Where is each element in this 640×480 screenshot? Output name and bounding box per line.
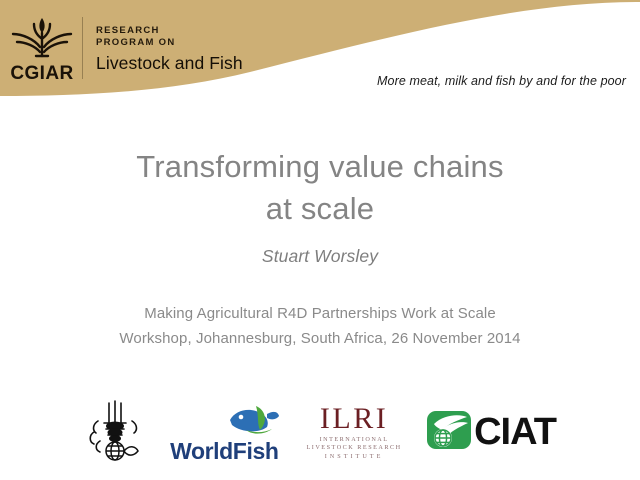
ciat-globe-leaf-icon bbox=[426, 408, 472, 457]
ilri-sub-line2: LIVESTOCK RESEARCH bbox=[307, 444, 402, 453]
slide-event: Making Agricultural R4D Partnerships Wor… bbox=[0, 301, 640, 351]
cgiar-brand-block: CGIAR RESEARCH PROGRAM ON Livestock and … bbox=[0, 0, 400, 96]
ilri-wordmark: ILRI bbox=[320, 403, 388, 434]
brand-kicker-line1: RESEARCH bbox=[96, 25, 243, 38]
ilri-sub-line3: INSTITUTE bbox=[307, 453, 402, 462]
event-line1: Making Agricultural R4D Partnerships Wor… bbox=[0, 301, 640, 326]
worldfish-wordmark: WorldFish bbox=[170, 439, 278, 463]
cgiar-wordmark: CGIAR bbox=[10, 63, 73, 85]
ilri-subtitle: INTERNATIONAL LIVESTOCK RESEARCH INSTITU… bbox=[307, 436, 402, 462]
ilri-logo: ILRI INTERNATIONAL LIVESTOCK RESEARCH IN… bbox=[306, 403, 402, 462]
brand-text: RESEARCH PROGRAM ON Livestock and Fish bbox=[96, 23, 243, 74]
worldfish-fish-icon bbox=[226, 402, 280, 441]
icarda-logo bbox=[84, 399, 146, 465]
ciat-wordmark: CIAT bbox=[474, 413, 556, 451]
slide-title: Transforming value chains at scale bbox=[0, 146, 640, 230]
cgiar-logo-icon: CGIAR bbox=[6, 12, 78, 85]
slide-title-line1: Transforming value chains bbox=[0, 146, 640, 188]
ilri-sub-line1: INTERNATIONAL bbox=[307, 436, 402, 445]
event-line2: Workshop, Johannesburg, South Africa, 26… bbox=[0, 326, 640, 351]
slide-author: Stuart Worsley bbox=[0, 246, 640, 267]
program-tagline: More meat, milk and fish by and for the … bbox=[377, 74, 626, 88]
brand-divider bbox=[82, 17, 83, 79]
worldfish-logo: WorldFish bbox=[170, 402, 282, 463]
brand-kicker-line2: PROGRAM ON bbox=[96, 37, 243, 50]
program-name: Livestock and Fish bbox=[96, 52, 243, 74]
partner-logo-strip: WorldFish ILRI INTERNATIONAL LIVESTOCK R… bbox=[0, 396, 640, 468]
ciat-logo: CIAT bbox=[426, 408, 556, 457]
slide-title-line2: at scale bbox=[0, 188, 640, 230]
